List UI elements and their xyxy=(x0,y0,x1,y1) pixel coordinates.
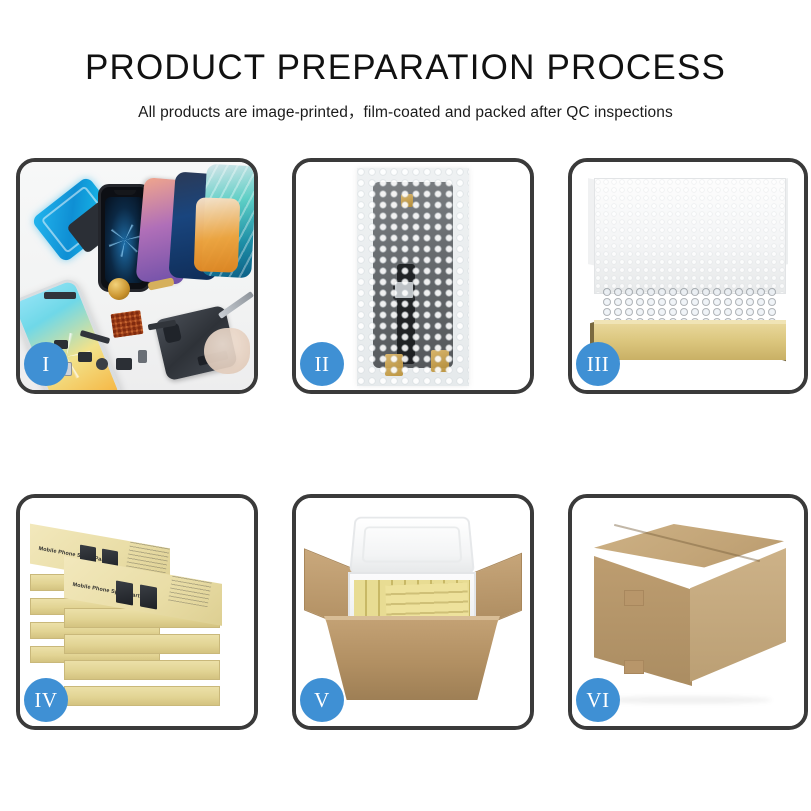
foam-lid xyxy=(349,517,475,574)
step-badge-3: III xyxy=(576,342,620,386)
carton-tape-1 xyxy=(624,590,644,606)
part-connector xyxy=(138,350,147,363)
crack-pattern xyxy=(108,223,142,257)
stacked-box xyxy=(64,634,220,654)
step-badge-1: I xyxy=(24,342,68,386)
bubble-wrap-bag xyxy=(357,168,469,386)
step-panel-4: Mobile Phone Spare Parts Mobile Phone Sp… xyxy=(16,494,258,730)
notch xyxy=(114,190,136,195)
foam-texture xyxy=(595,179,785,293)
carton-body xyxy=(326,620,498,700)
part-strip-1 xyxy=(44,292,76,299)
stacked-box xyxy=(64,686,220,706)
part-chip-2 xyxy=(116,358,132,370)
tweezers-icon xyxy=(218,291,254,319)
step-panel-1: I xyxy=(16,158,258,394)
box-screen-image-3 xyxy=(116,581,133,606)
header: PRODUCT PREPARATION PROCESS All products… xyxy=(0,0,811,122)
phone-screen-orange xyxy=(194,197,241,272)
step-badge-4: IV xyxy=(24,678,68,722)
part-chip-1 xyxy=(78,352,92,362)
step-badge-2: II xyxy=(300,342,344,386)
step-panel-5: V xyxy=(292,494,534,730)
bubble-texture xyxy=(357,168,469,386)
box-front-yellow xyxy=(594,324,786,360)
speaker-coil-part xyxy=(108,278,130,300)
step-panel-2: II xyxy=(292,158,534,394)
steps-grid: I II xyxy=(16,158,806,730)
chip-grid-part xyxy=(110,310,143,338)
step-badge-6: VI xyxy=(576,678,620,722)
product-preparation-infographic: PRODUCT PREPARATION PROCESS All products… xyxy=(0,0,811,811)
step-panel-3: III xyxy=(568,158,808,394)
stacked-box xyxy=(64,660,220,680)
carton-right-face xyxy=(690,548,786,682)
page-subtitle: All products are image-printed，film-coat… xyxy=(0,100,811,122)
carton-tape-2 xyxy=(624,660,644,674)
page-title: PRODUCT PREPARATION PROCESS xyxy=(0,48,811,88)
step-badge-5: V xyxy=(300,678,344,722)
part-camera xyxy=(96,358,108,370)
box-lid-white xyxy=(594,178,786,294)
step-panel-6: VI xyxy=(568,494,808,730)
hand xyxy=(204,328,250,374)
box-screen-image-4 xyxy=(140,585,157,610)
carton-shadow xyxy=(602,696,772,704)
